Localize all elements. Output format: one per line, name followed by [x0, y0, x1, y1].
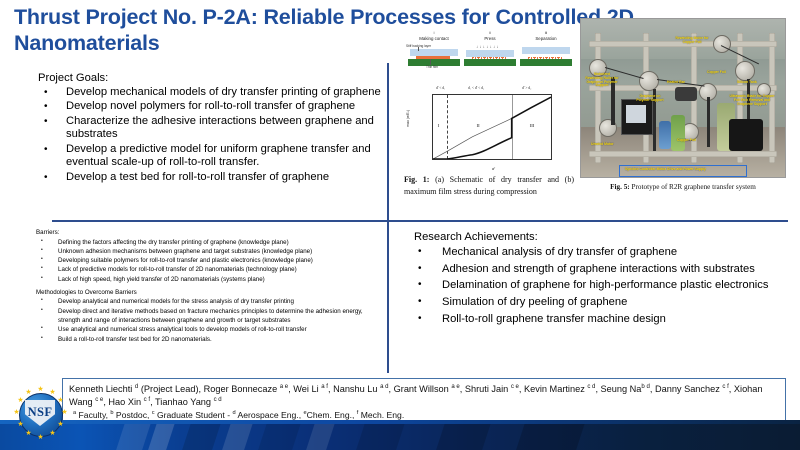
- affiliation-superscript: c: [152, 410, 155, 416]
- affiliation-superscript: a f: [321, 384, 328, 390]
- schematic-panel-3: iii Separation: [520, 32, 572, 69]
- polymer-support-roller: [639, 71, 659, 91]
- bullet-icon: •: [36, 335, 58, 343]
- list-item: • Build a roll-to-roll transfer test bed…: [36, 335, 381, 344]
- zone-1-condition: d' < d₁: [436, 86, 445, 90]
- list-item: • Develop mechanical models of dry trans…: [38, 86, 383, 99]
- layer-stack: [520, 43, 572, 69]
- barrier-text: Defining the factors affecting the dry t…: [58, 238, 381, 247]
- annotation-unwind-motor: Unwind Motor: [591, 143, 614, 147]
- dry-transfer-schematic: i Making contact Stiff backing layer Thi…: [404, 32, 576, 82]
- bottom-decoration-bar: [0, 420, 800, 450]
- research-achievements-section: Research Achievements: • Mechanical anal…: [414, 231, 786, 329]
- list-item: • Adhesion and strength of graphene inte…: [414, 263, 786, 277]
- annotation-thin-film: Thin film: [426, 65, 438, 69]
- list-item: • Develop analytical and numerical model…: [36, 297, 381, 306]
- bullet-icon: •: [38, 86, 66, 99]
- bullet-icon: •: [38, 143, 66, 156]
- list-item: • Mechanical analysis of dry transfer of…: [414, 246, 786, 260]
- list-item: • Defining the factors affecting the dry…: [36, 238, 381, 247]
- affiliation-superscript: b: [110, 410, 113, 416]
- affiliation-superscript: d: [135, 384, 138, 390]
- affiliation-superscript: c d: [587, 384, 595, 390]
- bullet-icon: •: [36, 247, 58, 255]
- bullet-icon: •: [38, 100, 66, 113]
- substrate-layer: [464, 59, 516, 66]
- goal-text: Develop a predictive model for uniform g…: [66, 143, 383, 170]
- y-axis-label: max (σ/Eₛ): [406, 110, 410, 127]
- methodology-text: Develop analytical and numerical models …: [58, 297, 381, 306]
- bullet-icon: •: [38, 171, 66, 184]
- project-goals-heading: Project Goals:: [38, 72, 383, 84]
- nsf-logo-text: NSF: [12, 405, 68, 420]
- list-item: • Simulation of dry peeling of graphene: [414, 296, 786, 310]
- barriers-section: Barriers: • Defining the factors affecti…: [36, 229, 381, 344]
- x-tick: 0.5: [470, 159, 475, 160]
- annotation-ultrasonic-blade: Ultrasonic Blade for Copper Foil Etch Re…: [727, 95, 777, 106]
- bullet-icon: •: [36, 297, 58, 305]
- star-icon: ★: [17, 421, 24, 428]
- list-item: • Develop a predictive model for uniform…: [38, 143, 383, 170]
- goal-text: Characterize the adhesive interactions b…: [66, 115, 383, 142]
- methodology-text: Build a roll-to-roll transfer test bed f…: [58, 335, 381, 344]
- goal-text: Develop mechanical models of dry transfe…: [66, 86, 383, 99]
- list-item: • Unknown adhesion mechanisms between gr…: [36, 247, 381, 256]
- schematic-panel-1: i Making contact Stiff backing layer Thi…: [408, 32, 460, 69]
- zone-3-condition: d' > d₂: [522, 86, 531, 90]
- figure-1-caption-text: (a) Schematic of dry transfer and (b) ma…: [404, 175, 574, 196]
- figure-1-caption: Fig. 1: (a) Schematic of dry transfer an…: [404, 174, 574, 197]
- green-tank: [671, 115, 685, 151]
- x-tick: 1: [511, 159, 513, 160]
- star-icon: ★: [61, 409, 68, 416]
- list-item: • Lack of high speed, high yield transfe…: [36, 275, 381, 284]
- achievement-text: Adhesion and strength of graphene intera…: [442, 263, 786, 277]
- achievement-text: Mechanical analysis of dry transfer of g…: [442, 246, 786, 260]
- layer-stack: Stiff backing layer Thin film: [408, 43, 460, 69]
- affiliation-superscript: c f: [144, 397, 150, 403]
- list-item: • Lack of predictive models for roll-to-…: [36, 265, 381, 274]
- affiliation-superscript: a d: [380, 384, 388, 390]
- list-item: • Use analytical and numerical stress an…: [36, 325, 381, 334]
- methodologies-heading: Methodologies to Overcome Barriers: [36, 289, 381, 296]
- star-icon: ★: [25, 430, 32, 437]
- annotation-synchro-controller: Synchro Controller Motor Drive and Power…: [625, 168, 706, 172]
- affiliation-superscript: c e: [511, 384, 519, 390]
- list-item: • Roll-to-roll graphene transfer machine…: [414, 313, 786, 327]
- affiliation-superscript: c d: [214, 397, 222, 403]
- affiliation-superscript: f: [357, 410, 359, 416]
- x-axis-label: d': [492, 166, 495, 171]
- panel-label: Press: [464, 36, 516, 42]
- layer-stack: ↓↓↓↓↓↓↓: [464, 43, 516, 69]
- substrate-layer: [520, 59, 572, 66]
- figure-1: i Making contact Stiff backing layer Thi…: [404, 32, 576, 212]
- panel-label: Separation: [520, 36, 572, 42]
- barrier-text: Unknown adhesion mechanisms between grap…: [58, 247, 381, 256]
- frame-rail: [589, 151, 777, 157]
- list-item: • Develop novel polymers for roll-to-rol…: [38, 100, 383, 113]
- heated-bar: [675, 87, 697, 101]
- panel-label: Making contact: [408, 36, 460, 42]
- affiliation-superscript: a e: [280, 384, 288, 390]
- barrier-text: Lack of predictive models for roll-to-ro…: [58, 265, 381, 274]
- vertical-divider: [387, 63, 389, 373]
- bullet-icon: •: [36, 265, 58, 273]
- stamp-layer: [466, 50, 514, 57]
- list-item: • Develop direct and iterative methods b…: [36, 307, 381, 326]
- annotation-motorized-rewinding-roller: Motorized Rewinding Roller for Graphene/…: [585, 73, 619, 88]
- series-thick-line: [433, 97, 551, 159]
- goal-text: Develop a test bed for roll-to-roll tran…: [66, 171, 383, 184]
- silicon-tank-roller: [735, 61, 755, 81]
- annotation-stiff-backing: Stiff backing layer: [406, 44, 431, 48]
- annotation-copper-foil-bottom: Copper Foil: [677, 139, 696, 143]
- barrier-text: Lack of high speed, high yield transfer …: [58, 275, 381, 284]
- achievement-text: Roll-to-roll graphene transfer machine d…: [442, 313, 786, 327]
- barrier-text: Developing suitable polymers for roll-to…: [58, 256, 381, 265]
- affiliation-superscript: d: [232, 410, 235, 416]
- schematic-panel-2: ii Press ↓↓↓↓↓↓↓: [464, 32, 516, 69]
- authors-box: Kenneth Liechti d (Project Lead), Roger …: [62, 378, 786, 424]
- affiliation-superscript: c e: [95, 397, 103, 403]
- annotation-copper-foil-top: Copper Foil: [707, 71, 726, 75]
- figure-5-caption-label: Fig. 5:: [610, 183, 630, 191]
- figure-5-caption-text: Prototype of R2R graphene transfer syste…: [630, 183, 756, 191]
- star-icon: ★: [57, 421, 64, 428]
- horizontal-divider: [52, 220, 788, 222]
- star-icon: ★: [37, 386, 44, 393]
- star-icon: ★: [57, 397, 64, 404]
- list-item: • Developing suitable polymers for roll-…: [36, 256, 381, 265]
- bullet-icon: •: [414, 296, 442, 309]
- annotation-silicon-tank: Silicon Tank: [737, 81, 757, 85]
- max-film-stress-chart: d' < d₁ d₁ < d' < d₂ d' > d₂ max (σ/Eₛ) …: [410, 86, 560, 174]
- methodology-text: Use analytical and numerical stress anal…: [58, 325, 381, 334]
- star-icon: ★: [49, 389, 56, 396]
- stamp-layer: [522, 47, 570, 54]
- x-tick: 0: [432, 159, 434, 160]
- authors-list: Kenneth Liechti d (Project Lead), Roger …: [69, 383, 779, 409]
- bullet-icon: •: [38, 115, 66, 128]
- annotation-rewinding-motor: Rewinding Motor for Copper Foil: [675, 37, 709, 45]
- bullet-icon: •: [414, 313, 442, 326]
- list-item: • Characterize the adhesive interactions…: [38, 115, 383, 142]
- bullet-icon: •: [36, 238, 58, 246]
- annotation-heated-bar: Heated Bar: [667, 81, 685, 85]
- star-icon: ★: [17, 397, 24, 404]
- chart-curves: [433, 95, 551, 159]
- methodology-text: Develop direct and iterative methods bas…: [58, 307, 381, 326]
- r2r-prototype-photo: Rewinding Motor for Copper Foil Motorize…: [580, 18, 786, 178]
- nsf-logo: NSF ★ ★ ★ ★ ★ ★ ★ ★ ★ ★ ★ ★: [12, 386, 68, 442]
- figure-5-caption: Fig. 5: Prototype of R2R graphene transf…: [580, 183, 786, 191]
- star-icon: ★: [13, 409, 20, 416]
- achievements-heading: Research Achievements:: [414, 231, 786, 243]
- star-icon: ★: [37, 434, 44, 441]
- list-item: • Delamination of graphene for high-perf…: [414, 279, 786, 293]
- x-tick: 1.5: [549, 159, 552, 160]
- drive-belt: [707, 97, 710, 147]
- figure-5: Rewinding Motor for Copper Foil Motorize…: [580, 18, 786, 212]
- blue-equipment: [659, 121, 671, 149]
- list-item: • Develop a test bed for roll-to-roll tr…: [38, 171, 383, 184]
- affiliation-superscript: a: [73, 410, 76, 416]
- controller-screen: [626, 105, 646, 123]
- achievement-text: Delamination of graphene for high-perfor…: [442, 279, 786, 293]
- barriers-heading: Barriers:: [36, 229, 381, 236]
- figure-1-caption-label: Fig. 1:: [404, 175, 429, 184]
- bullet-icon: •: [36, 256, 58, 264]
- plot-area: 0 0.3 0.6 0.9 1.2 1.5 0 0.5 1 1.5 I II I…: [432, 94, 552, 160]
- bullet-icon: •: [414, 263, 442, 276]
- dark-cabinet: [729, 119, 763, 151]
- slide-canvas: Thrust Project No. P-2A: Reliable Proces…: [0, 0, 800, 450]
- bullet-icon: •: [36, 275, 58, 283]
- achievement-text: Simulation of dry peeling of graphene: [442, 296, 786, 310]
- affiliation-superscript: a e: [451, 384, 459, 390]
- annotation-graphene-on-polymer-support: Graphene on Polymer Support: [633, 95, 667, 103]
- bullet-icon: •: [36, 307, 58, 315]
- affiliation-superscript: b d: [641, 384, 649, 390]
- affiliation-superscript: e: [303, 410, 306, 416]
- star-icon: ★: [49, 430, 56, 437]
- star-icon: ★: [25, 389, 32, 396]
- zone-2-condition: d₁ < d' < d₂: [468, 86, 484, 90]
- bullet-icon: •: [414, 279, 442, 292]
- goal-text: Develop novel polymers for roll-to-roll …: [66, 100, 383, 113]
- bullet-icon: •: [414, 246, 442, 259]
- project-goals-section: Project Goals: • Develop mechanical mode…: [38, 72, 383, 185]
- bullet-icon: •: [36, 325, 58, 333]
- bar-top-edge: [0, 420, 800, 424]
- affiliation-superscript: c f: [722, 384, 728, 390]
